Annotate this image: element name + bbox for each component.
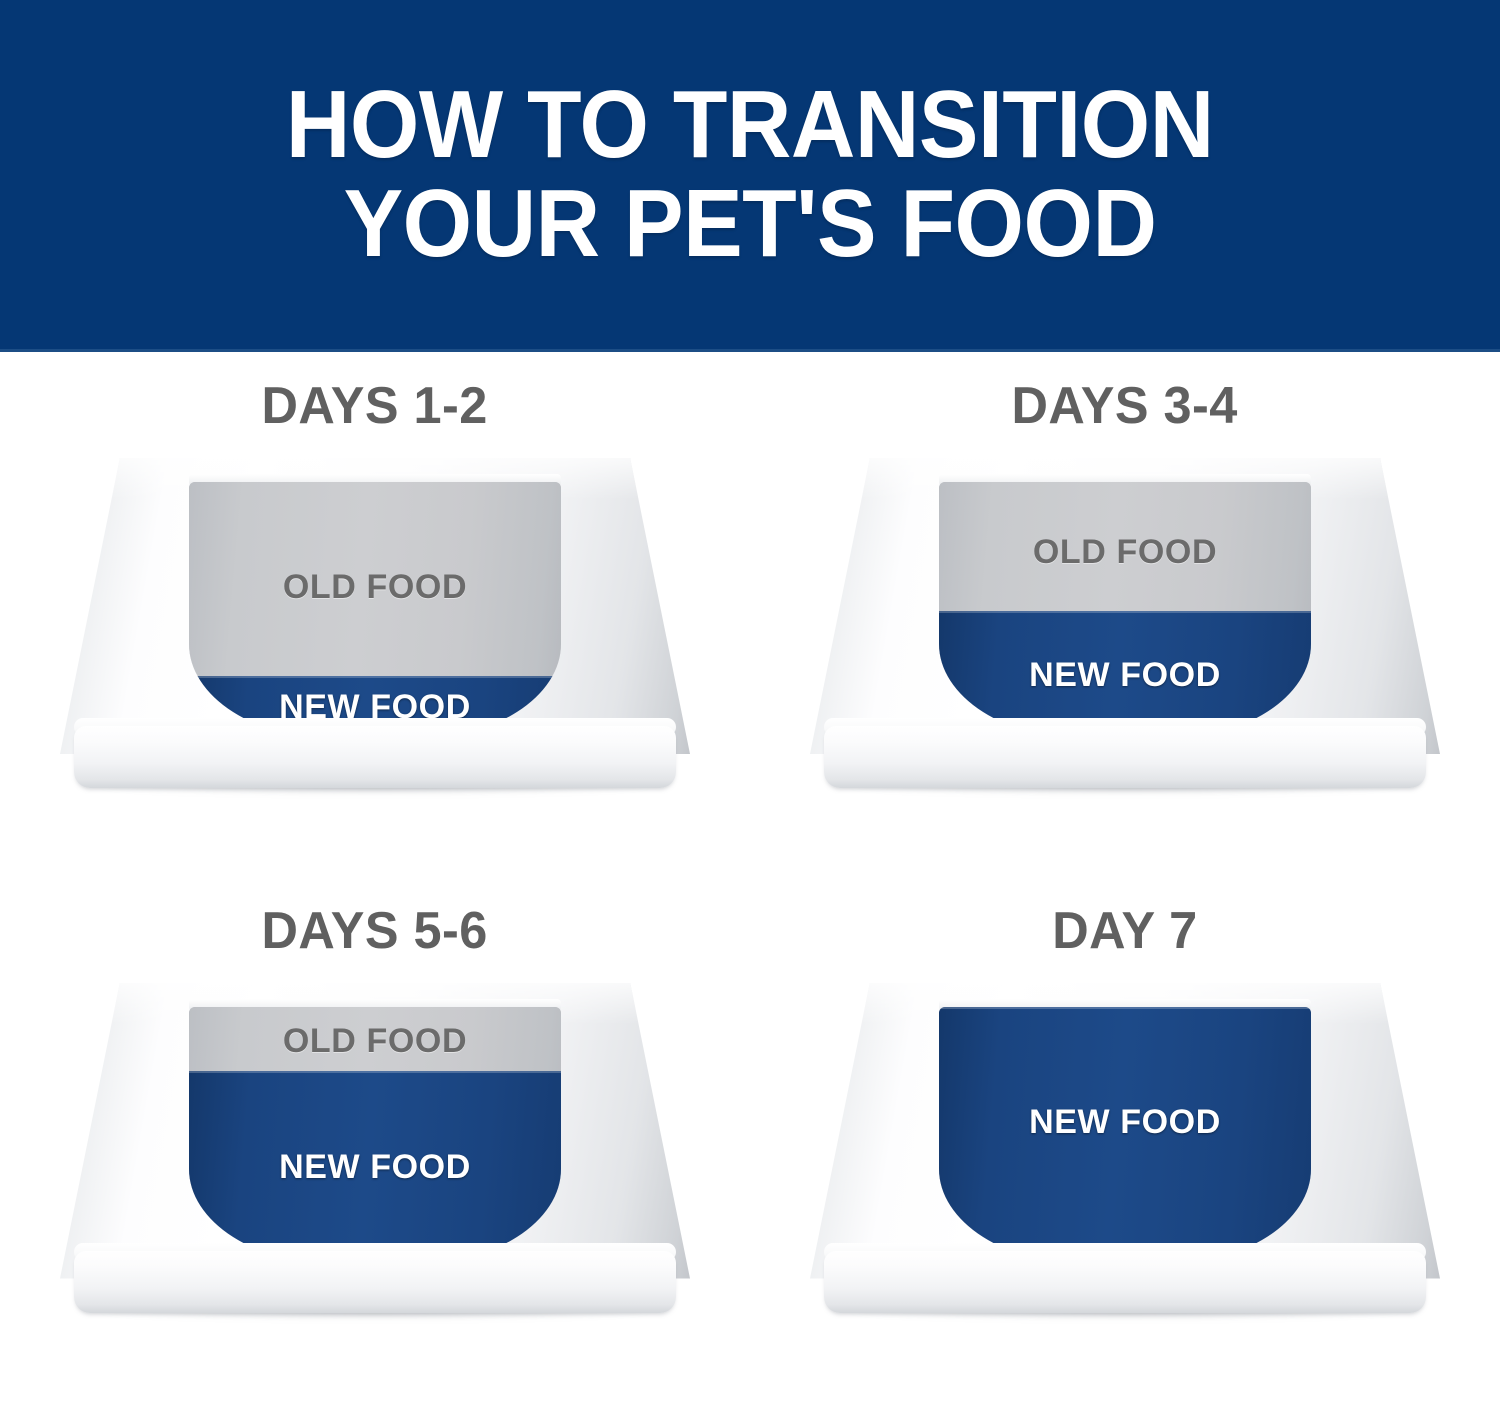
new-food-fill: NEW FOOD (189, 1071, 561, 1265)
old-food-label: OLD FOOD (189, 1022, 561, 1061)
old-food-label: OLD FOOD (939, 533, 1311, 572)
page-header-banner: HOW TO TRANSITION YOUR PET'S FOOD (0, 0, 1500, 352)
new-food-label: NEW FOOD (189, 1148, 561, 1187)
pet-food-bowl-step-3: OLD FOOD NEW FOOD (60, 983, 690, 1313)
bowl-foot (74, 726, 676, 788)
day-label-step-1: DAYS 1-2 (262, 380, 488, 432)
transition-step-4: DAY 7 NEW FOOD (750, 877, 1500, 1401)
bowl-foot (74, 1251, 676, 1313)
page-title-line-2: YOUR PET'S FOOD (344, 175, 1157, 274)
day-label-step-4: DAY 7 (1052, 905, 1197, 957)
old-food-label: OLD FOOD (189, 568, 561, 607)
bowl-food-cavity: OLD FOOD NEW FOOD (939, 482, 1311, 740)
transition-steps-grid: DAYS 1-2 OLD FOOD NEW FOOD DAYS 3-4 (0, 352, 1500, 1401)
pet-food-bowl-step-1: OLD FOOD NEW FOOD (60, 458, 690, 788)
transition-step-2: DAYS 3-4 OLD FOOD NEW FOOD (750, 352, 1500, 877)
new-food-fill: NEW FOOD (939, 1007, 1311, 1265)
page-title-line-1: HOW TO TRANSITION (286, 76, 1214, 175)
transition-step-3: DAYS 5-6 OLD FOOD NEW FOOD (0, 877, 750, 1401)
day-label-step-2: DAYS 3-4 (1012, 380, 1238, 432)
bowl-food-cavity: OLD FOOD NEW FOOD (189, 482, 561, 740)
bowl-foot (824, 1251, 1426, 1313)
transition-step-1: DAYS 1-2 OLD FOOD NEW FOOD (0, 352, 750, 877)
new-food-label: NEW FOOD (939, 1103, 1311, 1142)
pet-food-bowl-step-4: NEW FOOD (810, 983, 1440, 1313)
new-food-label: NEW FOOD (939, 656, 1311, 695)
bowl-food-cavity: OLD FOOD NEW FOOD (189, 1007, 561, 1265)
bowl-food-cavity: NEW FOOD (939, 1007, 1311, 1265)
bowl-foot (824, 726, 1426, 788)
pet-food-bowl-step-2: OLD FOOD NEW FOOD (810, 458, 1440, 788)
day-label-step-3: DAYS 5-6 (262, 905, 488, 957)
